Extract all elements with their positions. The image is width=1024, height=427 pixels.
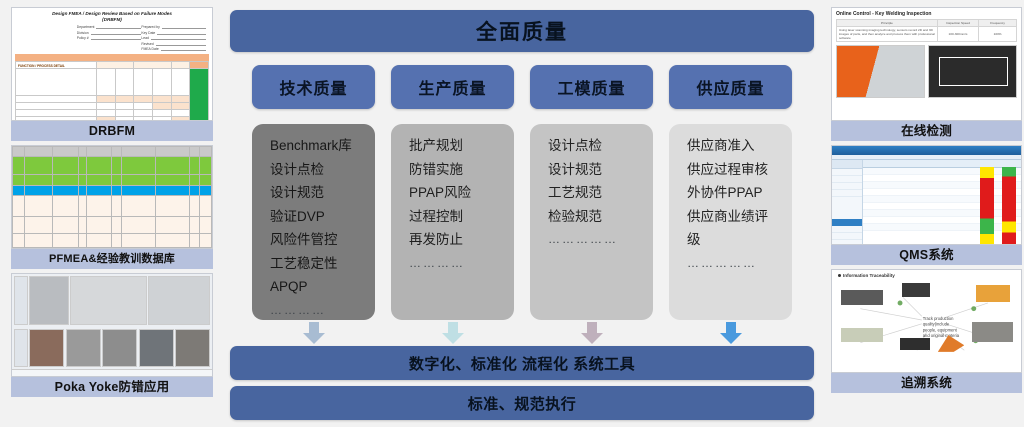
down-arrow-icon <box>579 322 605 344</box>
column-supplier-quality: 供应质量 供应商准入 供应过程审核 外协件PPAP 供应商业绩评 级 …………… <box>669 65 792 320</box>
panel-technical-quality: Benchmark库 设计点检 设计规范 验证DVP 风险件管控 工艺稳定性 A… <box>252 124 375 320</box>
pill-supplier-quality[interactable]: 供应质量 <box>669 65 792 109</box>
left-sidebar: Design FMEA / Design Review Based on Fai… <box>0 0 222 427</box>
drbfm-fields-left: Department Division Policy # <box>77 25 142 53</box>
list-item: 过程控制 <box>409 205 514 229</box>
right-caption-qms[interactable]: QMS系统 <box>831 245 1022 265</box>
table-row <box>13 196 212 217</box>
photo-cell <box>175 329 210 367</box>
list-item: 设计规范 <box>270 181 375 205</box>
list-item: APQP <box>270 275 375 299</box>
status-column-a <box>980 167 994 245</box>
photo-cell <box>29 276 68 325</box>
drbfm-field-label: Lead <box>141 36 149 40</box>
left-caption-pokayoke[interactable]: Poka Yoke防错应用 <box>11 377 213 397</box>
list-item: PPAP风险 <box>409 181 514 205</box>
column-tooling-quality: 工模质量 设计点检 设计规范 工艺规范 检验规范 …………… <box>530 65 653 320</box>
table-row <box>13 147 212 157</box>
device-photo <box>902 283 930 297</box>
online-inspection-title: Online Control - Key Welding Inspection <box>832 8 1021 19</box>
list-item: 批产规划 <box>409 134 514 158</box>
list-ellipsis: …………… <box>548 228 653 252</box>
column-technical-quality: 技术质量 Benchmark库 设计点检 设计规范 验证DVP 风险件管控 工艺… <box>252 65 375 320</box>
pokayoke-thumbnail[interactable] <box>11 273 213 377</box>
drbfm-section-header: FUNCTION / PROCESS DETAIL <box>15 54 209 61</box>
pfmea-table <box>12 146 212 248</box>
cell-speed: 100-300mm/s <box>937 27 978 42</box>
column-header: Inspection Speed <box>937 20 978 27</box>
field-rule <box>96 25 141 29</box>
pill-tooling-quality[interactable]: 工模质量 <box>530 65 653 109</box>
list-item: 供应过程审核 <box>687 158 792 182</box>
list-item: 工艺稳定性 <box>270 252 375 276</box>
list-item: 级 <box>687 228 792 252</box>
drbfm-field-label: Policy # <box>77 36 89 40</box>
qms-nav-tree <box>832 160 863 245</box>
down-arrow-icon <box>718 322 744 344</box>
traceability-note: Track production <box>923 316 954 321</box>
photo-cell <box>14 276 28 325</box>
traceability-diagram: Track production quality(include people,… <box>832 278 1021 362</box>
field-rule <box>162 25 206 29</box>
svg-text:quality(include: quality(include <box>923 322 950 327</box>
down-arrow-icon <box>301 322 327 344</box>
table-row: Using laser scanning imaging technology,… <box>837 27 1017 42</box>
table-row <box>13 157 212 175</box>
table-row <box>13 174 212 185</box>
list-item: 检验规范 <box>548 205 653 229</box>
list-ellipsis: ………… <box>409 252 514 276</box>
list-item: 设计点检 <box>548 134 653 158</box>
table-row <box>16 102 209 109</box>
drbfm-field-label: FMEA Date <box>141 47 158 51</box>
photo-cell <box>70 276 147 325</box>
drbfm-section-label: FUNCTION / PROCESS DETAIL <box>15 63 65 70</box>
table-row <box>13 186 212 196</box>
table-row <box>13 233 212 247</box>
pill-production-quality[interactable]: 生产质量 <box>391 65 514 109</box>
drbfm-field-label: Division <box>77 31 89 35</box>
drbfm-thumbnail[interactable]: Design FMEA / Design Review Based on Fai… <box>11 7 213 121</box>
traceability-title: Information Traceability <box>832 270 1021 278</box>
column-header: Principle <box>837 20 938 27</box>
cell-principle: Using laser scanning imaging technology,… <box>837 27 938 42</box>
list-item: 防错实施 <box>409 158 514 182</box>
device-photo <box>841 328 883 341</box>
photo-cell <box>66 329 101 367</box>
right-panel-qms[interactable]: QMS系统 <box>831 145 1022 265</box>
qms-data-grid <box>863 160 1021 245</box>
pfmea-thumbnail[interactable] <box>11 145 213 249</box>
photo-cell <box>139 329 174 367</box>
left-panel-pfmea[interactable]: PFMEA&经验教训数据库 <box>11 145 213 269</box>
svg-text:people, equipment: people, equipment <box>923 327 958 332</box>
panel-supplier-quality: 供应商准入 供应过程审核 外协件PPAP 供应商业绩评 级 …………… <box>669 124 792 320</box>
column-production-quality: 生产质量 批产规划 防错实施 PPAP风险 过程控制 再发防止 ………… <box>391 65 514 320</box>
svg-text:and original materia: and original materia <box>923 333 960 338</box>
list-item: 验证DVP <box>270 205 375 229</box>
pokayoke-notes <box>12 369 212 377</box>
drbfm-field-label: Key Date <box>141 31 155 35</box>
photo-cell <box>102 329 137 367</box>
cell-frequency: 100% <box>979 27 1017 42</box>
drbfm-doc-title: Design FMEA / Design Review Based on Fai… <box>12 8 212 17</box>
table-row <box>16 109 209 116</box>
status-column-b <box>1002 167 1016 245</box>
quality-columns: 技术质量 Benchmark库 设计点检 设计规范 验证DVP 风险件管控 工艺… <box>230 65 814 320</box>
table-header-row: Principle Inspection Speed Frequency <box>837 20 1017 27</box>
drbfm-table <box>15 61 209 122</box>
drbfm-field-label: Revised <box>141 42 153 46</box>
device-photo <box>976 285 1010 302</box>
device-photo <box>972 322 1014 342</box>
drbfm-fields-right: Prepared by Key Date Lead Revised FMEA D… <box>141 25 206 53</box>
table-row <box>16 116 209 121</box>
list-item: 设计点检 <box>270 158 375 182</box>
list-item: Benchmark库 <box>270 134 375 158</box>
photo-cell <box>148 276 210 325</box>
bullet-icon <box>838 274 841 277</box>
list-ellipsis: ………… <box>270 299 375 321</box>
qms-app-header <box>832 146 1021 155</box>
left-caption-pfmea[interactable]: PFMEA&经验教训数据库 <box>11 249 213 269</box>
field-rule <box>157 31 206 35</box>
pill-technical-quality[interactable]: 技术质量 <box>252 65 375 109</box>
left-panel-drbfm[interactable]: Design FMEA / Design Review Based on Fai… <box>11 7 213 141</box>
standards-bar: 标准、规范执行 <box>230 386 814 420</box>
field-rule <box>161 47 206 51</box>
right-caption-online-inspection[interactable]: 在线检测 <box>831 121 1022 141</box>
right-panel-traceability[interactable]: Information Traceability <box>831 269 1022 393</box>
list-item: 供应商业绩评 <box>687 205 792 229</box>
field-rule <box>156 42 206 46</box>
column-header: Frequency <box>979 20 1017 27</box>
drbfm-field-block: Department Division Policy # Prepared by… <box>12 23 212 53</box>
table-row <box>13 217 212 233</box>
list-item: 供应商准入 <box>687 134 792 158</box>
page-title: 全面质量 <box>230 10 814 52</box>
list-item: 外协件PPAP <box>687 181 792 205</box>
main-content: 全面质量 技术质量 Benchmark库 设计点检 设计规范 验证DVP 风险件… <box>222 0 822 427</box>
online-inspection-thumbnail[interactable]: Online Control - Key Welding Inspection … <box>831 7 1022 121</box>
left-caption-drbfm[interactable]: DRBFM <box>11 121 213 141</box>
panel-tooling-quality: 设计点检 设计规范 工艺规范 检验规范 …………… <box>530 124 653 320</box>
scan-image-photo <box>928 45 1017 98</box>
drbfm-field-label: Department <box>77 25 95 29</box>
qms-thumbnail[interactable] <box>831 145 1022 245</box>
device-photo <box>900 338 930 350</box>
list-item: 再发防止 <box>409 228 514 252</box>
traceability-thumbnail[interactable]: Information Traceability <box>831 269 1022 373</box>
flow-arrows <box>230 322 814 346</box>
list-item: 工艺规范 <box>548 181 653 205</box>
photo-cell <box>29 329 64 367</box>
field-rule <box>91 36 142 40</box>
panel-production-quality: 批产规划 防错实施 PPAP风险 过程控制 再发防止 ………… <box>391 124 514 320</box>
online-inspection-table: Principle Inspection Speed Frequency Usi… <box>836 19 1017 42</box>
field-rule <box>91 31 142 35</box>
drbfm-field-label: Prepared by <box>141 25 159 29</box>
down-arrow-icon <box>440 322 466 344</box>
right-caption-traceability[interactable]: 追溯系统 <box>831 373 1022 393</box>
welding-robot-photo <box>836 45 925 98</box>
table-row <box>16 95 209 102</box>
device-photo <box>841 290 883 305</box>
photo-cell <box>14 329 28 367</box>
right-panel-online-inspection[interactable]: Online Control - Key Welding Inspection … <box>831 7 1022 141</box>
right-sidebar: Online Control - Key Welding Inspection … <box>822 0 1024 427</box>
table-row <box>16 68 209 95</box>
left-panel-pokayoke[interactable]: Poka Yoke防错应用 <box>11 273 213 397</box>
list-item: 风险件管控 <box>270 228 375 252</box>
list-item: 设计规范 <box>548 158 653 182</box>
list-ellipsis: …………… <box>687 252 792 276</box>
field-rule <box>151 36 206 40</box>
tools-bar: 数字化、标准化 流程化 系统工具 <box>230 346 814 380</box>
